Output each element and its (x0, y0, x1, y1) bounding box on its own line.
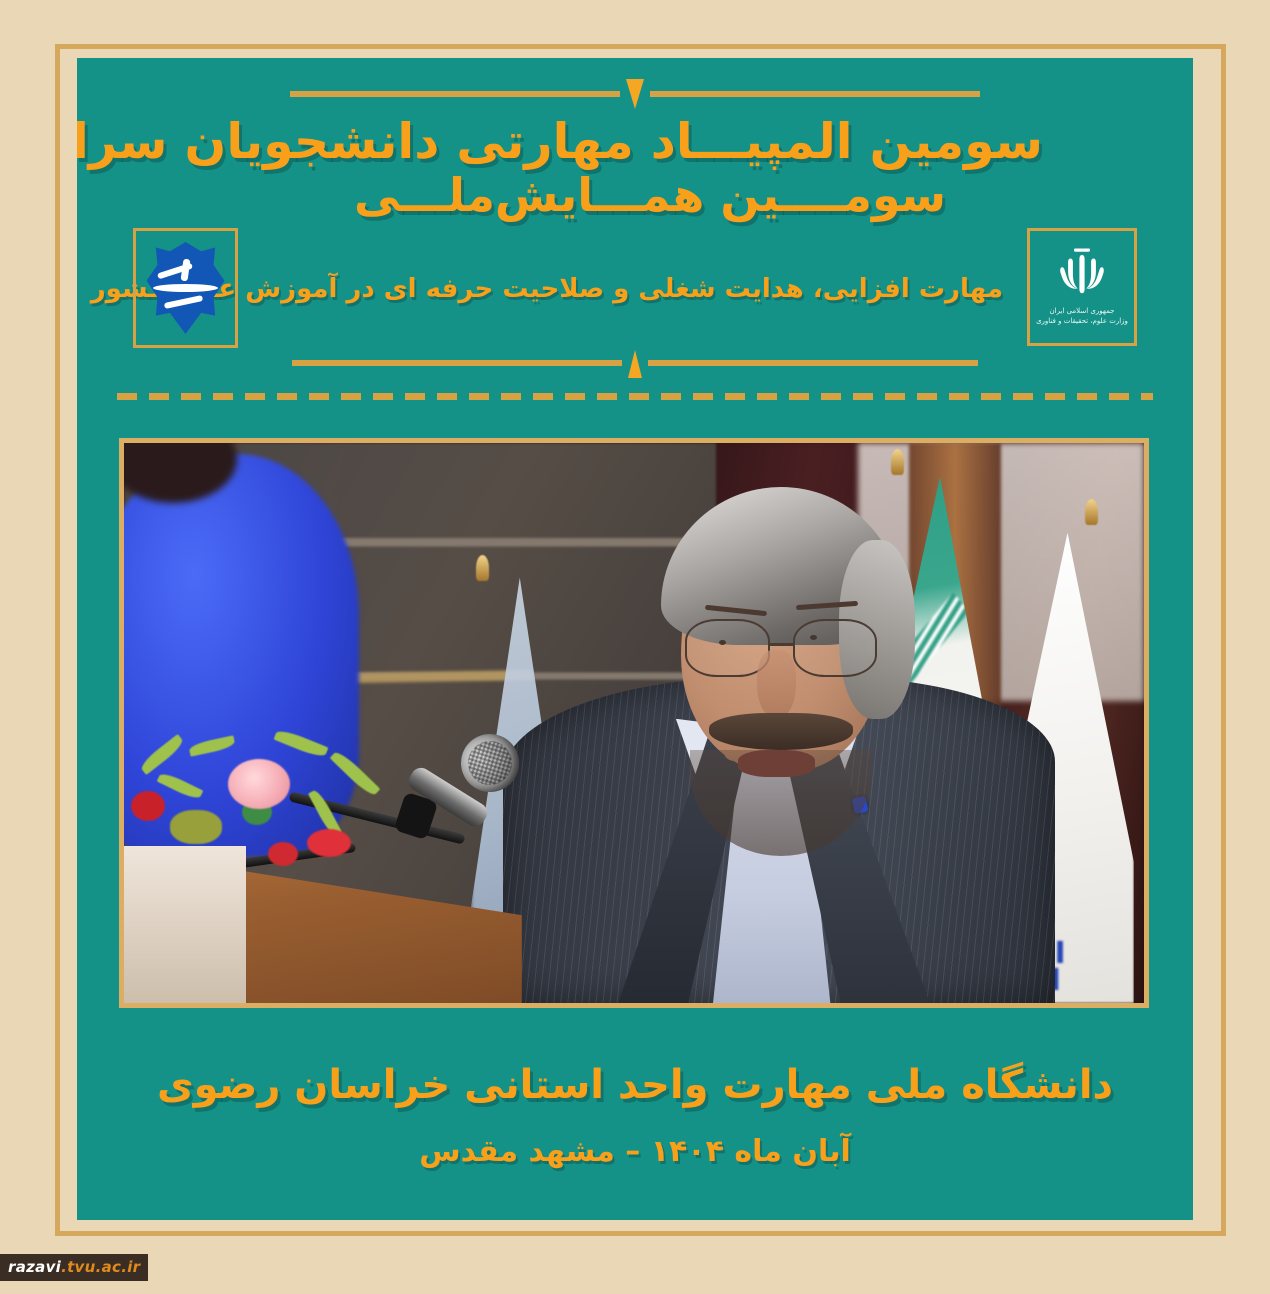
poster-title-line-1: سومین المپیـــاد مهارتی دانشجویان سراسر … (257, 116, 1043, 167)
title-block: سومین المپیـــاد مهارتی دانشجویان سراسر … (257, 116, 1043, 220)
footer-date: آبان ماه ۱۴۰۴ – مشهد مقدس (419, 1134, 851, 1169)
eyeglass-bridge (770, 643, 793, 646)
top-ornament (77, 74, 1193, 114)
dashed-divider (117, 393, 1153, 400)
speaker-photo-frame: NIEI (119, 438, 1149, 1008)
ministry-emblem-caption: جمهوری اسلامی ایران وزارت علوم، تحقیقات … (1036, 306, 1128, 327)
logo-swash (153, 284, 219, 292)
flag-finial-3-icon (1085, 499, 1098, 525)
logo-box-national-skills-university (133, 228, 238, 348)
flower-red-1 (131, 791, 165, 821)
speaker-photo: NIEI (124, 443, 1144, 1003)
leaf-4 (330, 749, 381, 799)
flag-finial-1-icon (476, 555, 489, 581)
flower-red-3 (268, 842, 298, 866)
ornament-bar-left-2 (292, 360, 622, 366)
flag-finial-2-icon (891, 449, 904, 475)
ornament-triangle-down-icon (626, 79, 644, 109)
leaf-5 (156, 771, 203, 802)
flower-red-2 (307, 829, 351, 857)
eyeglass-lens-right (793, 619, 877, 677)
speaker-nose (757, 650, 795, 718)
national-skills-university-icon (147, 242, 225, 334)
poster-root: سومین المپیـــاد مهارتی دانشجویان سراسر … (0, 0, 1270, 1294)
poster-header: سومین المپیـــاد مهارتی دانشجویان سراسر … (77, 58, 1193, 410)
bottom-ornament (77, 343, 1193, 383)
ornament-bar-right-2 (648, 360, 978, 366)
poster-subtitle: مهارت افزایی، هدایت شغلی و صلاحیت حرفه ا… (292, 274, 1003, 304)
flower-arrangement (124, 745, 450, 879)
teal-content-panel: سومین المپیـــاد مهارتی دانشجویان سراسر … (77, 58, 1193, 1220)
background-person-head (119, 438, 237, 503)
emblem-caption-line-2: وزارت علوم، تحقیقات و فناوری (1036, 316, 1128, 327)
poster-footer: دانشگاه ملی مهارت واحد استانی خراسان رضو… (77, 1010, 1193, 1220)
logo-stroke-2 (163, 295, 202, 309)
logo-stroke-3 (181, 258, 191, 281)
logo-box-ministry-of-science: جمهوری اسلامی ایران وزارت علوم، تحقیقات … (1027, 228, 1137, 346)
footer-venue: دانشگاه ملی مهارت واحد استانی خراسان رضو… (157, 1062, 1113, 1108)
site-watermark: razavi.tvu.ac.ir (0, 1254, 148, 1281)
flower-green-1 (170, 810, 222, 844)
emblem-caption-line-1: جمهوری اسلامی ایران (1036, 306, 1128, 317)
poster-title-line-2: سومــــین همـــایش‌ملـــی (257, 171, 1043, 219)
speaker-mouth (738, 750, 815, 776)
iran-emblem-icon: جمهوری اسلامی ایران وزارت علوم، تحقیقات … (1036, 248, 1128, 327)
ornament-bar-left (290, 91, 620, 97)
watermark-name: razavi (8, 1258, 61, 1276)
flower-pink-rose (228, 759, 290, 809)
speaker-figure (532, 477, 1011, 1003)
watermark-domain: .tvu.ac.ir (61, 1258, 140, 1276)
ornament-triangle-up-icon (628, 350, 642, 378)
ornament-bar-right (650, 91, 980, 97)
